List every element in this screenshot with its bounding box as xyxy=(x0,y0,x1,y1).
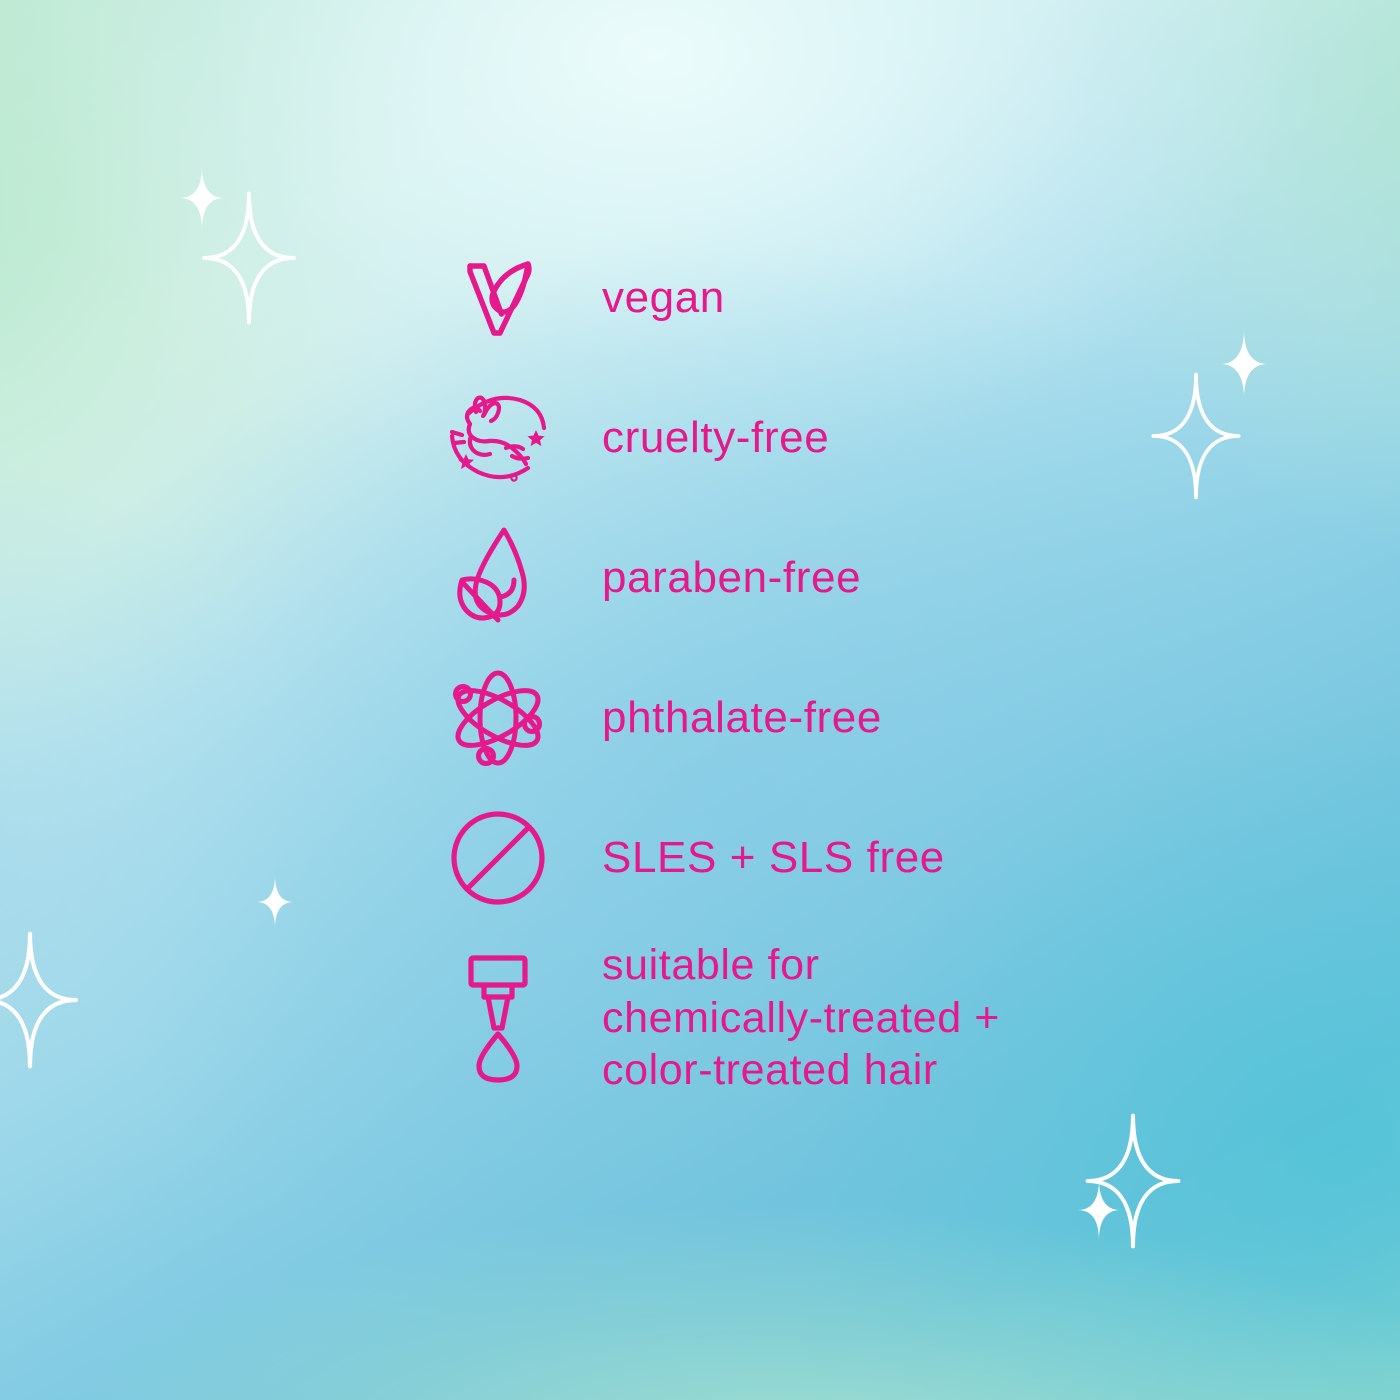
dropper-icon xyxy=(432,952,564,1084)
claims-list: vegan xyxy=(432,228,1132,1108)
leaping-bunny-icon xyxy=(432,388,564,488)
vegan-leaf-icon xyxy=(432,244,564,352)
claims-panel: vegan xyxy=(0,0,1400,1400)
claim-row-paraben-free: paraben-free xyxy=(432,508,1132,648)
sparkle-bottom-left-large xyxy=(0,930,80,1070)
claim-row-cruelty-free: cruelty-free xyxy=(432,368,1132,508)
sparkle-bottom-right-large xyxy=(1084,1110,1182,1252)
claim-row-suitable-for-treated-hair: suitable for chemically-treated + color-… xyxy=(432,928,1132,1108)
claim-label: phthalate-free xyxy=(564,692,882,743)
claim-label: SLES + SLS free xyxy=(564,832,945,883)
claim-label: vegan xyxy=(564,272,725,323)
sparkle-top-left-small xyxy=(178,155,226,241)
droplet-leaf-icon xyxy=(432,522,564,634)
sparkle-top-left-large xyxy=(200,190,298,326)
atom-icon xyxy=(432,662,564,774)
claim-row-sles-sls-free: SLES + SLS free xyxy=(432,788,1132,928)
claim-label: cruelty-free xyxy=(564,412,829,463)
claim-row-phthalate-free: phthalate-free xyxy=(432,648,1132,788)
sparkle-bottom-right-small xyxy=(1076,1174,1122,1246)
claim-row-vegan: vegan xyxy=(432,228,1132,368)
claim-label: paraben-free xyxy=(564,552,861,603)
sparkle-top-right-large xyxy=(1150,368,1242,504)
sparkle-top-right-small xyxy=(1218,321,1270,407)
sparkle-mid-left-small xyxy=(255,871,295,933)
claim-label: suitable for chemically-treated + color-… xyxy=(564,939,1000,1096)
prohibition-icon xyxy=(432,806,564,910)
